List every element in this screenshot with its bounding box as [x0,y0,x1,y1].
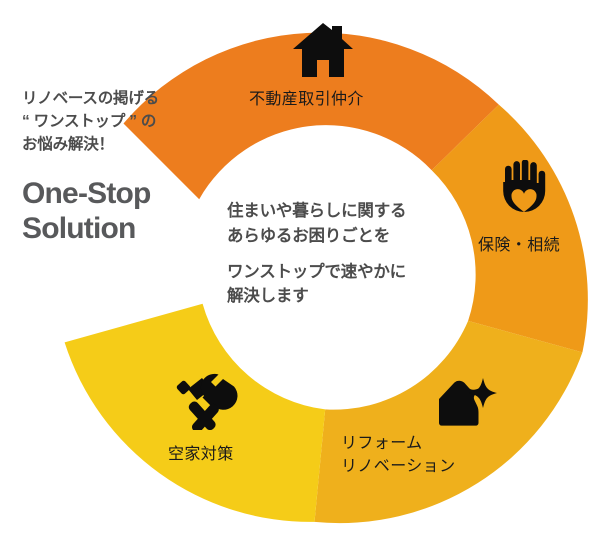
paragraph-spacer [227,249,467,260]
center-paragraph-2-line-1: ワンストップで速やかに [227,260,467,285]
segment-label-reform[interactable]: リフォーム リノベーション [341,432,455,478]
headline-line-1: One-Stop [22,177,232,212]
center-paragraph-1-line-2: あらゆるお困りごとを [227,224,467,249]
segment-label-real-estate[interactable]: 不動産取引仲介 [249,88,364,111]
hand-heart-icon [498,160,550,220]
center-paragraph-2-line-2: 解決します [227,284,467,309]
segment-label-reform-line-1: リフォーム [341,432,455,455]
segment-label-vacant-house-text: 空家対策 [168,443,234,466]
one-stop-solution-diagram: 不動産取引仲介 保険・相続 リフォーム リノベーション 空家対策 リノベースの掲… [0,0,600,533]
house-sparkle-icon [436,378,498,426]
lead-line-1: リノベースの掲げる [22,88,232,111]
segment-label-reform-line-2: リノベーション [341,455,455,478]
page-title: One-Stop Solution [22,177,232,247]
segment-label-vacant-house[interactable]: 空家対策 [168,443,234,466]
segment-label-insurance-text: 保険・相続 [478,234,560,257]
lead-line-2: “ ワンストップ ” の [22,111,232,134]
segment-label-insurance[interactable]: 保険・相続 [478,234,560,257]
house-icon [292,22,354,78]
hammer-wrench-icon [174,372,240,430]
left-heading-block: リノベースの掲げる “ ワンストップ ” の お悩み解決！ One-Stop S… [22,88,232,246]
headline-line-2: Solution [22,212,232,247]
center-description: 住まいや暮らしに関する あらゆるお困りごとを ワンストップで速やかに 解決します [227,199,467,309]
segment-label-real-estate-text: 不動産取引仲介 [249,88,364,111]
center-paragraph-1-line-1: 住まいや暮らしに関する [227,199,467,224]
lead-line-3: お悩み解決！ [22,134,232,157]
